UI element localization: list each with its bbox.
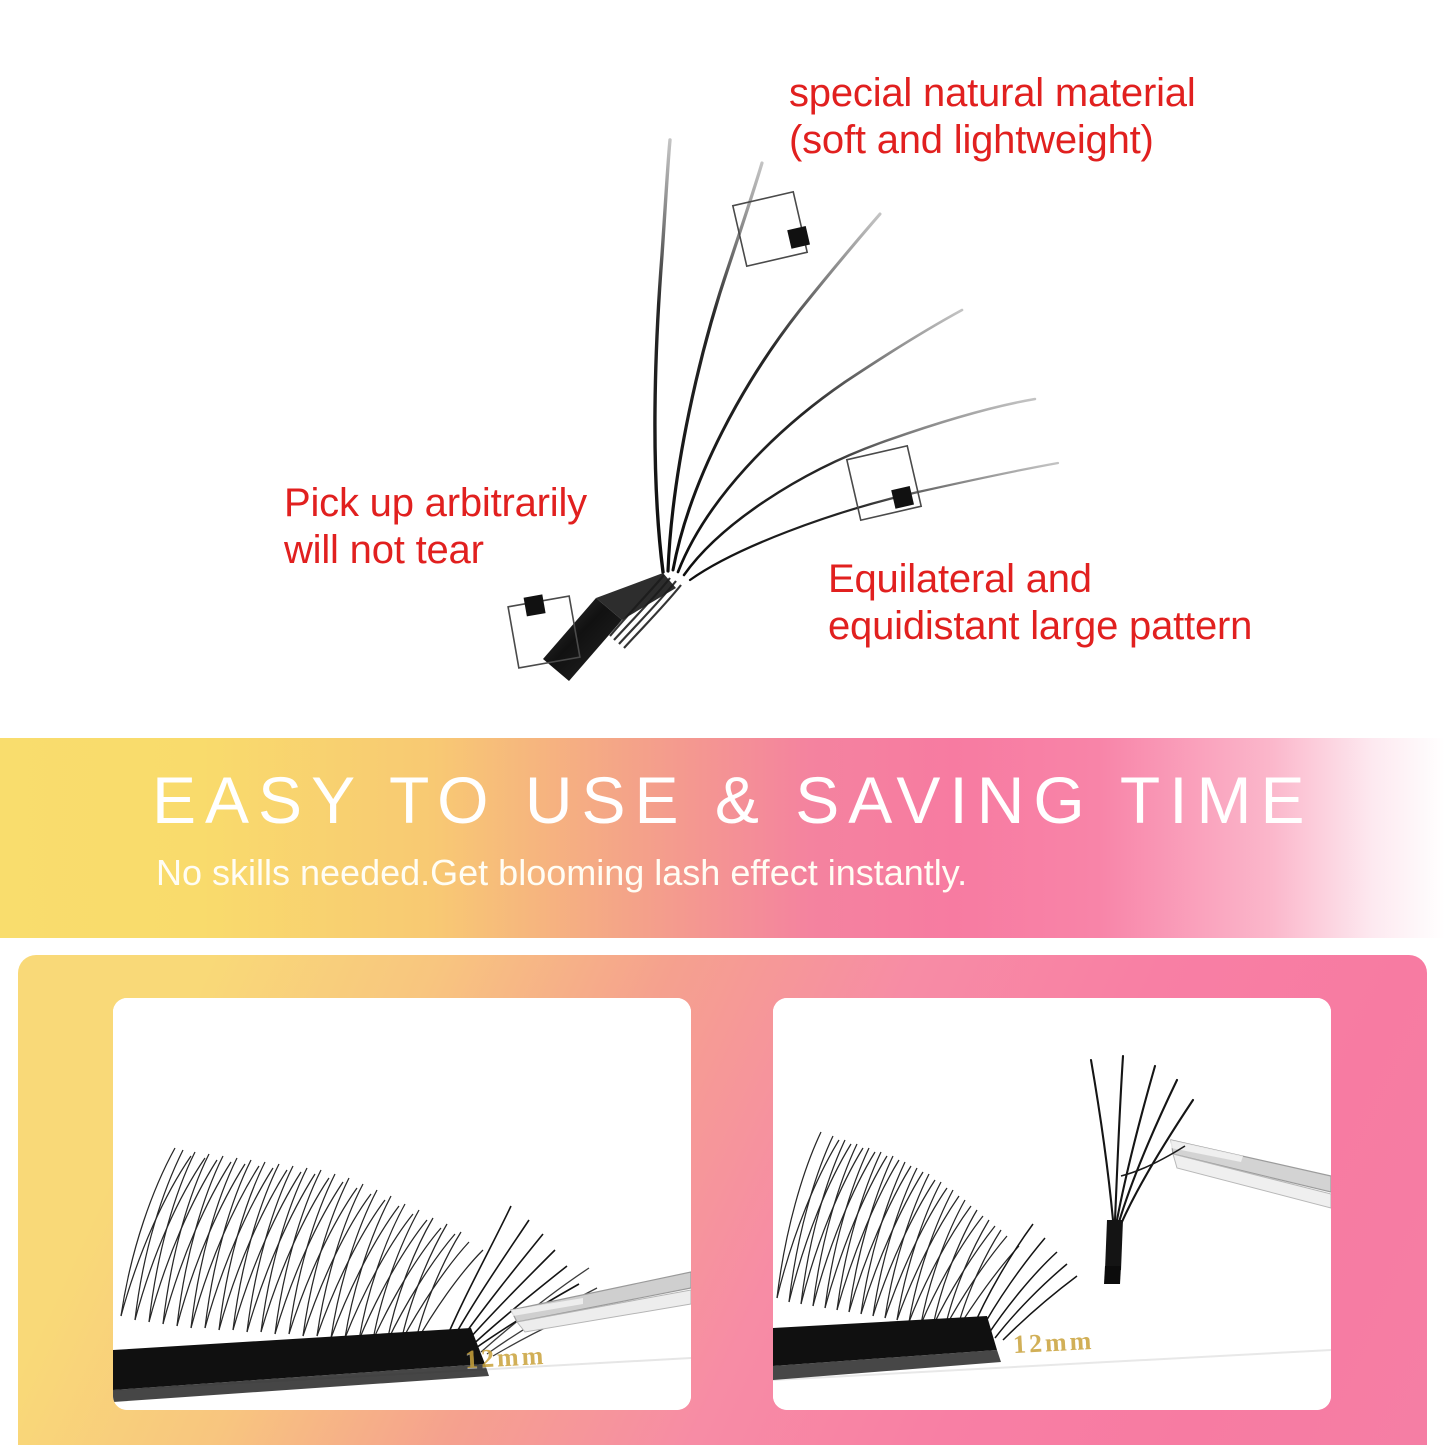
photo-caption-size: 12mm [1012, 1326, 1095, 1360]
photo-card-lash-tray-tweezers: 12mm [113, 998, 691, 1410]
callout-equilateral-pattern: Equilateral and equidistant large patter… [828, 556, 1252, 650]
photo-caption-size: 12mm [464, 1341, 547, 1375]
banner-title: EASY TO USE & SAVING TIME [152, 762, 1314, 838]
photo-lash-tray-tweezers [113, 998, 691, 1410]
lash-base [543, 573, 676, 681]
diagram-section: special natural material (soft and light… [0, 0, 1445, 716]
marker-dot [524, 594, 546, 616]
callout-pick-up-arbitrarily: Pick up arbitrarily will not tear [284, 480, 587, 574]
marker-mid [847, 446, 921, 520]
lash-strand [678, 310, 962, 572]
marker-dot [787, 226, 810, 249]
photo-card-lash-fan-lifted: 12mm [773, 998, 1331, 1410]
photos-section: 12mm [18, 955, 1427, 1445]
lash-strand [684, 399, 1035, 575]
lash-strand [655, 140, 670, 572]
marker-top [733, 192, 810, 266]
marker-dot [891, 486, 914, 509]
callout-special-natural-material: special natural material (soft and light… [789, 70, 1196, 164]
banner-section: EASY TO USE & SAVING TIME No skills need… [0, 738, 1445, 938]
lash-strand [673, 214, 880, 570]
banner-subtitle: No skills needed.Get blooming lash effec… [156, 852, 967, 894]
lash-strand [668, 163, 762, 571]
